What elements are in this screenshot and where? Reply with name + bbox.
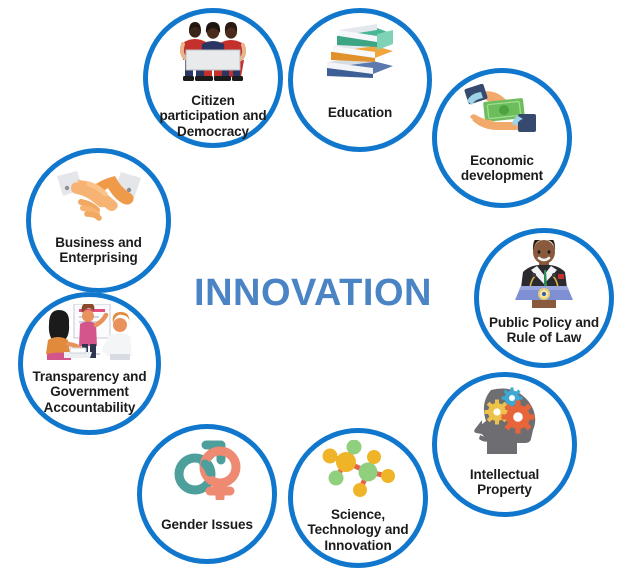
gender-symbols-icon <box>165 440 249 505</box>
node-label: Economic development <box>457 153 547 184</box>
infographic-canvas: INNOVATION <box>0 0 626 572</box>
node-label: Citizen participation and Democracy <box>155 93 270 139</box>
node-label: Transparency and Government Accountabili… <box>29 369 151 415</box>
node-citizen-participation[interactable]: Citizen participation and Democracy <box>143 8 283 148</box>
node-label: Business and Enterprising <box>51 235 146 266</box>
node-label: Education <box>324 105 396 120</box>
speaker-podium-icon <box>503 240 585 313</box>
node-education[interactable]: Education <box>288 8 432 152</box>
meeting-presentation-icon <box>44 304 136 367</box>
node-business-enterprising[interactable]: Business and Enterprising <box>26 148 171 293</box>
node-label: Science, Technology and Innovation <box>303 507 412 553</box>
node-label: Intellectual Property <box>466 467 543 498</box>
node-economic-development[interactable]: Economic development <box>432 68 572 208</box>
node-label: Gender Issues <box>157 517 257 532</box>
stacked-books-icon <box>321 24 399 91</box>
three-people-banner-icon <box>180 22 246 89</box>
node-science-technology[interactable]: Science, Technology and Innovation <box>288 428 428 568</box>
node-gender-issues[interactable]: Gender Issues <box>137 424 277 564</box>
node-public-policy[interactable]: Public Policy and Rule of Law <box>474 228 614 368</box>
node-transparency-accountability[interactable]: Transparency and Government Accountabili… <box>18 292 161 435</box>
handshake-icon <box>55 168 143 229</box>
money-exchange-hands-icon <box>462 84 542 147</box>
head-gears-icon <box>465 386 545 461</box>
node-label: Public Policy and Rule of Law <box>485 315 603 346</box>
node-intellectual-property[interactable]: Intellectual Property <box>432 372 577 517</box>
molecule-icon <box>316 440 400 503</box>
